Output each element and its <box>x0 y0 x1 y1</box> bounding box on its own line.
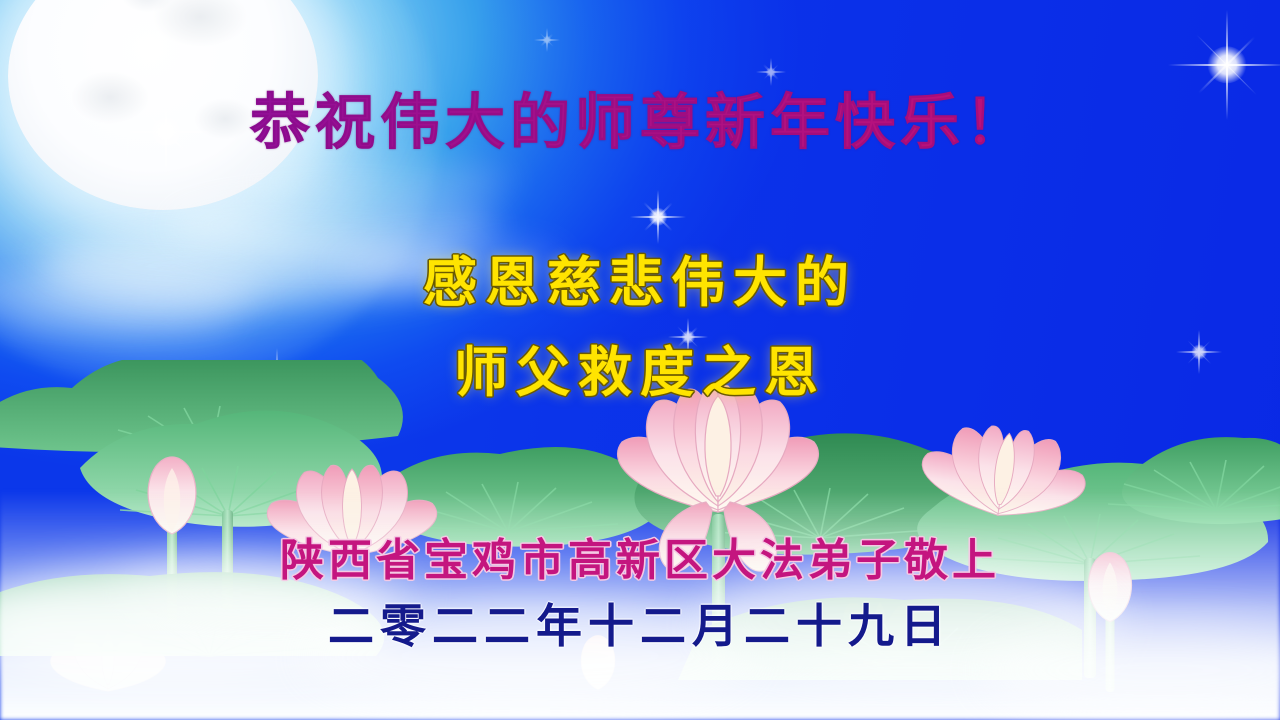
date-line: 二零二二年十二月二十九日 <box>0 590 1280 656</box>
cloud-wisp <box>250 160 510 206</box>
greeting-card: 恭祝伟大的师尊新年快乐！ 感恩慈悲伟大的 师父救度之恩 陕西省宝鸡市高新区大法弟… <box>0 0 1280 720</box>
greeting-line-2: 师父救度之恩 <box>0 328 1280 407</box>
signature-line: 陕西省宝鸡市高新区大法弟子敬上 <box>0 524 1280 588</box>
card-title: 恭祝伟大的师尊新年快乐！ <box>0 74 1280 161</box>
greeting-line-1: 感恩慈悲伟大的 <box>0 238 1280 317</box>
